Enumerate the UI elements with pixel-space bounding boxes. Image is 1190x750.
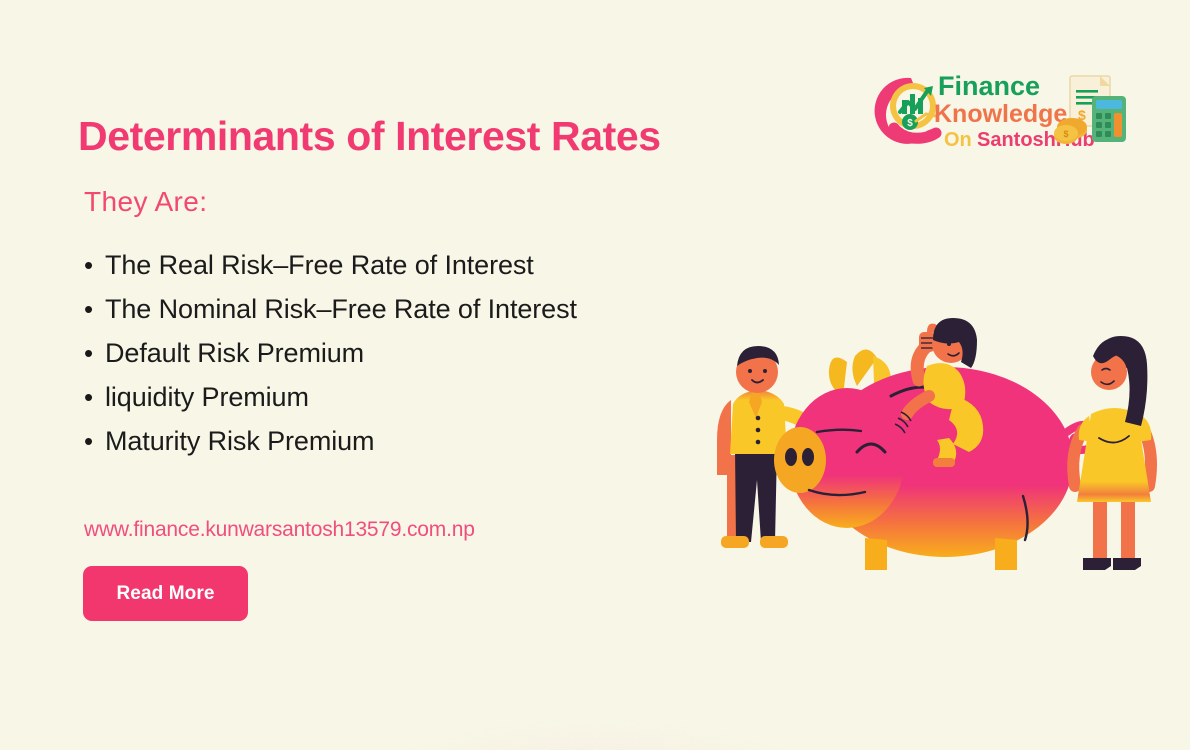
svg-text:$: $ xyxy=(907,118,913,129)
woman-standing-right xyxy=(1073,336,1151,570)
bullet-marker-icon: • xyxy=(80,252,105,278)
list-item: • liquidity Premium xyxy=(80,382,720,426)
svg-text:$: $ xyxy=(1063,129,1068,139)
bullet-marker-icon: • xyxy=(80,384,105,410)
page-title: Determinants of Interest Rates xyxy=(78,113,661,160)
list-item: • The Nominal Risk–Free Rate of Interest xyxy=(80,294,720,338)
subtitle-they-are: They Are: xyxy=(84,186,207,218)
slide-canvas: $ Finance Knowledge On SantoshHub $ xyxy=(0,0,1190,750)
brand-logo[interactable]: $ Finance Knowledge On SantoshHub $ xyxy=(866,66,1128,154)
logo-line-finance: Finance xyxy=(938,71,1040,101)
list-item-label: liquidity Premium xyxy=(105,382,309,413)
bullet-marker-icon: • xyxy=(80,340,105,366)
read-more-button[interactable]: Read More xyxy=(83,566,248,621)
list-item-label: Default Risk Premium xyxy=(105,338,364,369)
bullet-marker-icon: • xyxy=(80,296,105,322)
piggy-bank-with-people-illustration xyxy=(705,300,1190,585)
list-item-label: Maturity Risk Premium xyxy=(105,426,374,457)
list-item: • The Real Risk–Free Rate of Interest xyxy=(80,250,720,294)
calculator-icon xyxy=(1092,96,1126,142)
logo-line-knowledge: Knowledge xyxy=(934,100,1067,128)
website-url[interactable]: www.finance.kunwarsantosh13579.com.np xyxy=(84,518,475,542)
list-item-label: The Real Risk–Free Rate of Interest xyxy=(105,250,534,281)
logo-line-on: On xyxy=(944,129,972,151)
list-item: • Maturity Risk Premium xyxy=(80,426,720,470)
hand-holding-growth-chart-icon: $ xyxy=(875,78,938,144)
list-item: • Default Risk Premium xyxy=(80,338,720,382)
list-item-label: The Nominal Risk–Free Rate of Interest xyxy=(105,294,577,325)
bullet-marker-icon: • xyxy=(80,428,105,454)
determinants-list: • The Real Risk–Free Rate of Interest • … xyxy=(80,250,720,470)
